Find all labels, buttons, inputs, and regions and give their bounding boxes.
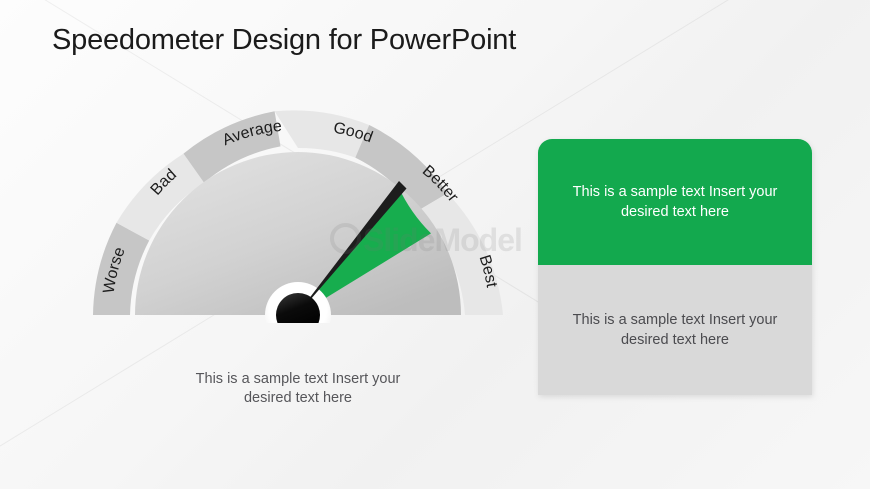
speedometer-gauge[interactable]: Worse Bad Average Good Better Best [88, 108, 508, 323]
side-panel-group: This is a sample text Insert your desire… [538, 139, 812, 395]
gauge-svg: Worse Bad Average Good Better Best [88, 108, 508, 323]
panel-green[interactable]: This is a sample text Insert your desire… [538, 139, 812, 265]
panel-gray-text: This is a sample text Insert your desire… [538, 310, 812, 350]
page-title: Speedometer Design for PowerPoint [52, 24, 516, 57]
panel-green-text: This is a sample text Insert your desire… [538, 182, 812, 222]
panel-gray[interactable]: This is a sample text Insert your desire… [538, 265, 812, 395]
gauge-caption: This is a sample text Insert your desire… [176, 370, 420, 408]
slide-canvas: Speedometer Design for PowerPoint [0, 0, 870, 489]
